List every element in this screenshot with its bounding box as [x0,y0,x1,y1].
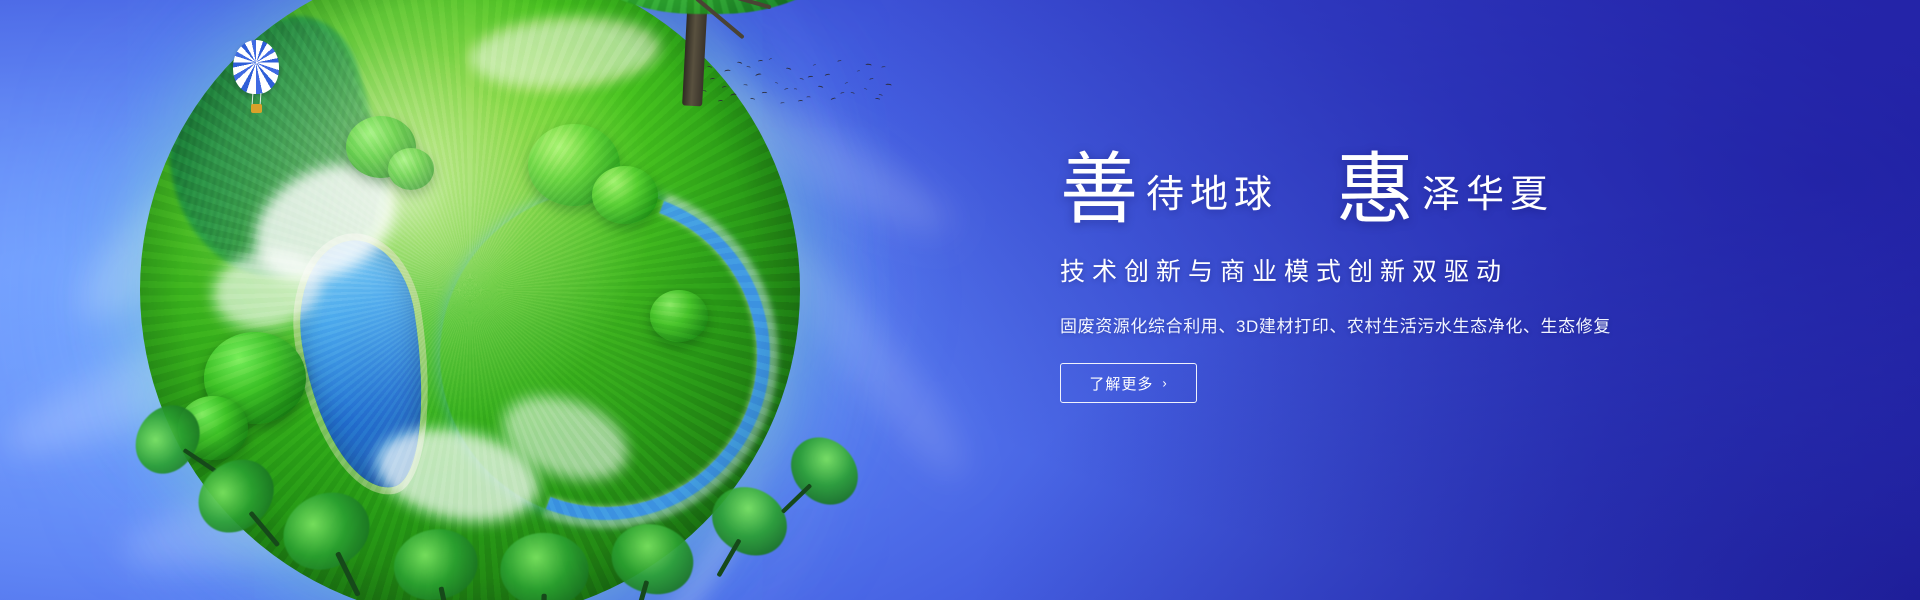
bird [830,97,836,102]
headline-text-daidiqiu: 待地球 [1146,176,1278,214]
bird [799,78,804,82]
banner-subtitle: 技术创新与商业模式创新双驱动 [1060,252,1820,288]
learn-more-button[interactable]: 了解更多 › [1060,363,1197,403]
bird [875,98,880,102]
tree-canopy [388,148,434,190]
bird [857,70,861,73]
banner-copy: 善 待地球 惠 泽华夏 技术创新与商业模式创新双驱动 固废资源化综合利用、3D建… [1060,136,1820,403]
bird [743,84,747,87]
learn-more-label: 了解更多 [1089,373,1153,394]
chevron-right-icon: › [1162,376,1167,389]
bird [768,58,772,61]
bird [806,96,810,99]
bird [755,73,762,78]
headline-char-shan: 善 [1060,154,1138,226]
bird [850,92,855,96]
bird [845,82,849,85]
hero-banner: 善 待地球 惠 泽华夏 技术创新与商业模式创新双驱动 固废资源化综合利用、3D建… [0,0,1920,600]
tree-canopy [592,166,658,224]
bird [808,76,814,80]
tree-canopy [528,124,620,206]
tree-canopy [204,332,306,424]
bird [813,64,817,67]
bird [785,67,791,72]
headline: 善 待地球 惠 泽华夏 [1060,136,1820,222]
bird [865,63,872,67]
bird [780,102,784,105]
bird [775,82,779,85]
bird [798,100,803,103]
bird [878,94,883,98]
headline-phrase-1: 善 待地球 [1060,150,1278,222]
balloon-basket [251,104,262,113]
bird [885,83,892,87]
bird [710,78,715,81]
tree-canopy [650,290,708,342]
hot-air-balloon [233,40,279,118]
lake [287,232,441,497]
bird [869,78,874,81]
headline-text-zehuaxia: 泽华夏 [1422,176,1554,214]
bird [837,60,842,63]
surface-cloud [205,239,329,338]
bird [840,92,845,95]
tree-canopy [346,116,416,178]
surface-cloud [234,141,416,304]
bird [881,66,885,69]
bird [762,92,768,95]
bird [724,69,731,73]
bird [824,73,830,78]
bird [784,88,789,92]
bird [864,88,868,91]
bird [702,90,707,93]
surface-cloud [491,380,639,496]
bird [730,93,737,98]
bird [736,61,742,66]
balloon-envelope [233,40,279,94]
bird [794,88,798,90]
bird [817,85,823,90]
bird [722,85,728,89]
bird [746,66,751,69]
headline-char-hui: 惠 [1336,154,1414,226]
banner-description: 固废资源化综合利用、3D建材打印、农村生活污水生态净化、生态修复 [1060,312,1820,337]
bird-flock [698,48,888,114]
bird [707,65,713,69]
bird [750,97,755,101]
limb-tree [498,519,590,600]
bird [758,60,763,63]
bird [718,100,723,103]
headline-phrase-2: 惠 泽华夏 [1336,150,1554,222]
